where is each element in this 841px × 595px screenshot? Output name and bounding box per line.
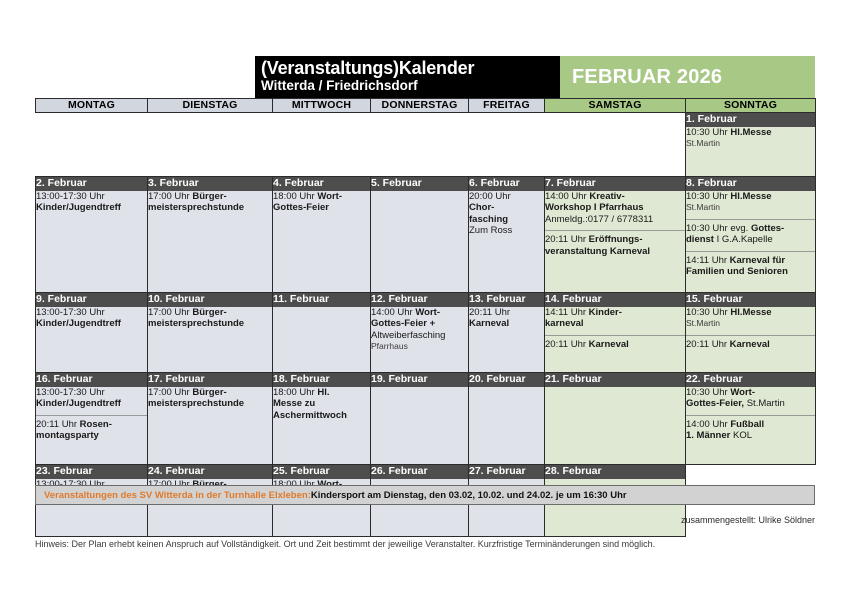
day-header[interactable]: 12. Februar xyxy=(371,293,469,307)
day-header[interactable]: 11. Februar xyxy=(273,293,371,307)
event-entry: 17:00 Uhr Bürger-meistersprechstunde xyxy=(148,191,272,214)
page-subtitle: Witterda / Friedrichsdorf xyxy=(261,78,560,94)
sport-text: Kindersport am Dienstag, den 03.02, 10.0… xyxy=(311,490,627,501)
day-header[interactable]: 8. Februar xyxy=(686,177,816,191)
empty-day-cell xyxy=(545,127,686,177)
week-date-row: 1. Februar xyxy=(36,113,816,127)
day-header[interactable]: 26. Februar xyxy=(371,465,469,479)
day-header[interactable]: 22. Februar xyxy=(686,373,816,387)
empty-day-cell xyxy=(36,127,148,177)
column-header-montag: MONTAG xyxy=(36,99,148,113)
day-cell[interactable] xyxy=(371,191,469,293)
day-cell[interactable]: 17:00 Uhr Bürger-meistersprechstunde xyxy=(148,191,273,293)
column-header-freitag: FREITAG xyxy=(469,99,545,113)
sport-announcement-bar: Veranstaltungen des SV Witterda in der T… xyxy=(35,485,815,505)
empty-day-header xyxy=(686,465,816,479)
empty-day-header xyxy=(371,113,469,127)
event-entry: 18:00 Uhr Hl.Messe zuAschermittwoch xyxy=(273,387,370,422)
week-content-row: 10:30 Uhr Hl.MesseSt.Martin xyxy=(36,127,816,177)
day-cell[interactable]: 13:00-17:30 Uhr Kinder/Jugendtreff xyxy=(36,191,148,293)
day-header[interactable]: 4. Februar xyxy=(273,177,371,191)
event-entry: 10:30 Uhr Wort-Gottes-Feier, St.Martin xyxy=(686,387,815,410)
empty-day-cell xyxy=(371,127,469,177)
calendar-page: (Veranstaltungs)Kalender Witterda / Frie… xyxy=(0,0,841,595)
disclaimer-note: Hinweis: Der Plan erhebt keinen Anspruch… xyxy=(35,539,655,549)
event-entry: 20:11 Uhr Eröffnungs-veranstaltung Karne… xyxy=(545,230,685,257)
day-header[interactable]: 17. Februar xyxy=(148,373,273,387)
day-header[interactable]: 23. Februar xyxy=(36,465,148,479)
column-header-mittwoch: MITTWOCH xyxy=(273,99,371,113)
calendar-table: MONTAGDIENSTAGMITTWOCHDONNERSTAGFREITAGS… xyxy=(35,98,816,537)
day-header[interactable]: 7. Februar xyxy=(545,177,686,191)
day-header[interactable]: 10. Februar xyxy=(148,293,273,307)
day-header[interactable]: 3. Februar xyxy=(148,177,273,191)
event-entry: 10:30 Uhr Hl.MesseSt.Martin xyxy=(686,307,815,330)
day-cell[interactable]: 17:00 Uhr Bürger-meistersprechstunde xyxy=(148,307,273,373)
column-header-dienstag: DIENSTAG xyxy=(148,99,273,113)
month-block: FEBRUAR 2026 xyxy=(560,56,815,98)
sport-prefix: Veranstaltungen des SV Witterda in der T… xyxy=(44,490,311,501)
title-block: (Veranstaltungs)Kalender Witterda / Frie… xyxy=(255,56,560,98)
week-content-row: 13:00-17:30 Uhr Kinder/Jugendtreff17:00 … xyxy=(36,307,816,373)
empty-day-header xyxy=(545,113,686,127)
day-header[interactable]: 5. Februar xyxy=(371,177,469,191)
day-cell[interactable]: 13:00-17:30 Uhr Kinder/Jugendtreff20:11 … xyxy=(36,387,148,465)
day-header[interactable]: 6. Februar xyxy=(469,177,545,191)
day-cell[interactable] xyxy=(545,387,686,465)
event-entry: 10:30 Uhr Hl.MesseSt.Martin xyxy=(686,191,815,214)
day-header[interactable]: 1. Februar xyxy=(686,113,816,127)
event-entry: 20:11 Uhr Karneval xyxy=(545,335,685,351)
event-entry: 20:11 UhrKarneval xyxy=(469,307,544,330)
event-entry: 20:11 Uhr Rosen-montagsparty xyxy=(36,415,147,442)
day-cell[interactable]: 17:00 Uhr Bürger-meistersprechstunde xyxy=(148,387,273,465)
credit-text: zusammengestellt: Ulrike Söldner xyxy=(681,515,815,525)
day-header[interactable]: 24. Februar xyxy=(148,465,273,479)
empty-day-cell xyxy=(148,127,273,177)
day-cell[interactable]: 10:30 Uhr Hl.MesseSt.Martin20:11 Uhr Kar… xyxy=(686,307,816,373)
empty-day-header xyxy=(469,113,545,127)
day-cell[interactable]: 10:30 Uhr Hl.MesseSt.Martin10:30 Uhr evg… xyxy=(686,191,816,293)
page-title: (Veranstaltungs)Kalender xyxy=(261,58,560,78)
empty-day-cell xyxy=(273,127,371,177)
event-entry: 20:00 UhrChor-faschingZum Ross xyxy=(469,191,544,237)
day-cell[interactable] xyxy=(273,307,371,373)
event-entry: 14:11 Uhr Kinder-karneval xyxy=(545,307,685,330)
day-cell[interactable]: 14:00 Uhr Wort-Gottes-Feier +Altweiberfa… xyxy=(371,307,469,373)
column-header-samstag: SAMSTAG xyxy=(545,99,686,113)
event-entry: 18:00 Uhr Wort-Gottes-Feier xyxy=(273,191,370,214)
event-entry: 13:00-17:30 Uhr Kinder/Jugendtreff xyxy=(36,307,147,330)
event-entry: 10:30 Uhr evg. Gottes-dienst I G.A.Kapel… xyxy=(686,219,815,246)
day-header[interactable]: 13. Februar xyxy=(469,293,545,307)
event-entry: 14:00 Uhr Fußball1. Männer KOL xyxy=(686,415,815,442)
event-entry: 13:00-17:30 Uhr Kinder/Jugendtreff xyxy=(36,387,147,410)
day-cell[interactable]: 14:00 Uhr Kreativ-Workshop I PfarrhausAn… xyxy=(545,191,686,293)
week-date-row: 16. Februar17. Februar18. Februar19. Feb… xyxy=(36,373,816,387)
calendar-body: 1. Februar10:30 Uhr Hl.MesseSt.Martin2. … xyxy=(36,113,816,537)
day-cell[interactable]: 18:00 Uhr Hl.Messe zuAschermittwoch xyxy=(273,387,371,465)
empty-day-header xyxy=(148,113,273,127)
event-entry: 10:30 Uhr Hl.MesseSt.Martin xyxy=(686,127,815,150)
day-cell[interactable] xyxy=(469,387,545,465)
column-header-donnerstag: DONNERSTAG xyxy=(371,99,469,113)
event-entry: 17:00 Uhr Bürger-meistersprechstunde xyxy=(148,387,272,410)
day-header[interactable]: 20. Februar xyxy=(469,373,545,387)
day-cell[interactable]: 10:30 Uhr Wort-Gottes-Feier, St.Martin14… xyxy=(686,387,816,465)
day-cell[interactable]: 20:11 UhrKarneval xyxy=(469,307,545,373)
column-header-sonntag: SONNTAG xyxy=(686,99,816,113)
day-header[interactable]: 21. Februar xyxy=(545,373,686,387)
week-date-row: 2. Februar3. Februar4. Februar5. Februar… xyxy=(36,177,816,191)
event-entry: 20:11 Uhr Karneval xyxy=(686,335,815,351)
day-cell[interactable]: 20:00 UhrChor-faschingZum Ross xyxy=(469,191,545,293)
day-header[interactable]: 2. Februar xyxy=(36,177,148,191)
day-header[interactable]: 25. Februar xyxy=(273,465,371,479)
week-content-row: 13:00-17:30 Uhr Kinder/Jugendtreff17:00 … xyxy=(36,191,816,293)
event-entry: 14:00 Uhr Wort-Gottes-Feier +Altweiberfa… xyxy=(371,307,468,353)
week-date-row: 23. Februar24. Februar25. Februar26. Feb… xyxy=(36,465,816,479)
day-header[interactable]: 27. Februar xyxy=(469,465,545,479)
event-entry: 14:00 Uhr Kreativ-Workshop I PfarrhausAn… xyxy=(545,191,685,226)
day-cell[interactable] xyxy=(371,387,469,465)
day-header[interactable]: 16. Februar xyxy=(36,373,148,387)
event-entry: 13:00-17:30 Uhr Kinder/Jugendtreff xyxy=(36,191,147,214)
event-entry: 17:00 Uhr Bürger-meistersprechstunde xyxy=(148,307,272,330)
day-header[interactable]: 19. Februar xyxy=(371,373,469,387)
day-header[interactable]: 28. Februar xyxy=(545,465,686,479)
day-header[interactable]: 9. Februar xyxy=(36,293,148,307)
day-header[interactable]: 14. Februar xyxy=(545,293,686,307)
day-cell[interactable]: 13:00-17:30 Uhr Kinder/Jugendtreff xyxy=(36,307,148,373)
day-header[interactable]: 18. Februar xyxy=(273,373,371,387)
day-cell[interactable]: 18:00 Uhr Wort-Gottes-Feier xyxy=(273,191,371,293)
week-content-row: 13:00-17:30 Uhr Kinder/Jugendtreff20:11 … xyxy=(36,387,816,465)
week-date-row: 9. Februar10. Februar11. Februar12. Febr… xyxy=(36,293,816,307)
month-label: FEBRUAR 2026 xyxy=(572,66,722,89)
day-header[interactable]: 15. Februar xyxy=(686,293,816,307)
empty-day-cell xyxy=(469,127,545,177)
empty-day-header xyxy=(273,113,371,127)
event-entry: 14:11 Uhr Karneval fürFamilien und Senio… xyxy=(686,251,815,278)
day-cell[interactable]: 10:30 Uhr Hl.MesseSt.Martin xyxy=(686,127,816,177)
title-band: (Veranstaltungs)Kalender Witterda / Frie… xyxy=(255,56,815,98)
calendar-header-row: MONTAGDIENSTAGMITTWOCHDONNERSTAGFREITAGS… xyxy=(36,99,816,113)
empty-day-header xyxy=(36,113,148,127)
day-cell[interactable]: 14:11 Uhr Kinder-karneval20:11 Uhr Karne… xyxy=(545,307,686,373)
